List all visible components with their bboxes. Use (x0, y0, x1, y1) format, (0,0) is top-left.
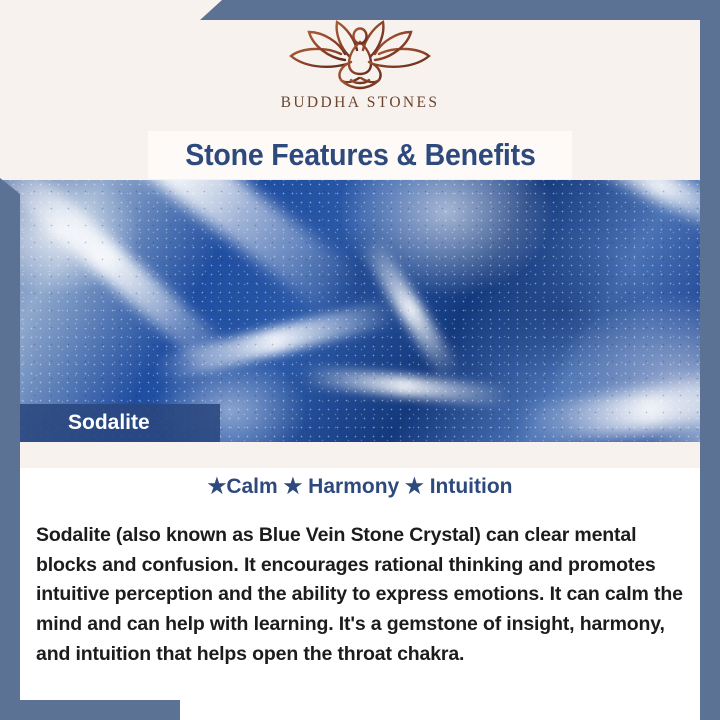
frame-accent-top (200, 0, 720, 20)
stone-description: Sodalite (also known as Blue Vein Stone … (36, 521, 688, 669)
frame-accent-right (700, 0, 720, 720)
stone-name-bar: Sodalite (20, 404, 220, 442)
content-section: ★Calm ★ Harmony ★ Intuition Sodalite (al… (0, 468, 720, 720)
keyword-line: ★Calm ★ Harmony ★ Intuition (0, 474, 720, 499)
stone-name-label: Sodalite (68, 411, 150, 435)
frame-accent-bottom (0, 700, 180, 720)
title-banner: Stone Features & Benefits (148, 131, 572, 179)
page-title: Stone Features & Benefits (185, 137, 535, 173)
stone-photo (0, 180, 720, 442)
frame-accent-left (0, 178, 20, 720)
stone-speckle-texture (0, 180, 720, 442)
brand-logo-block: BUDDHA STONES (0, 18, 720, 112)
brand-name: BUDDHA STONES (281, 94, 440, 112)
content-divider-strip (0, 442, 720, 468)
lotus-meditation-icon (285, 18, 435, 90)
